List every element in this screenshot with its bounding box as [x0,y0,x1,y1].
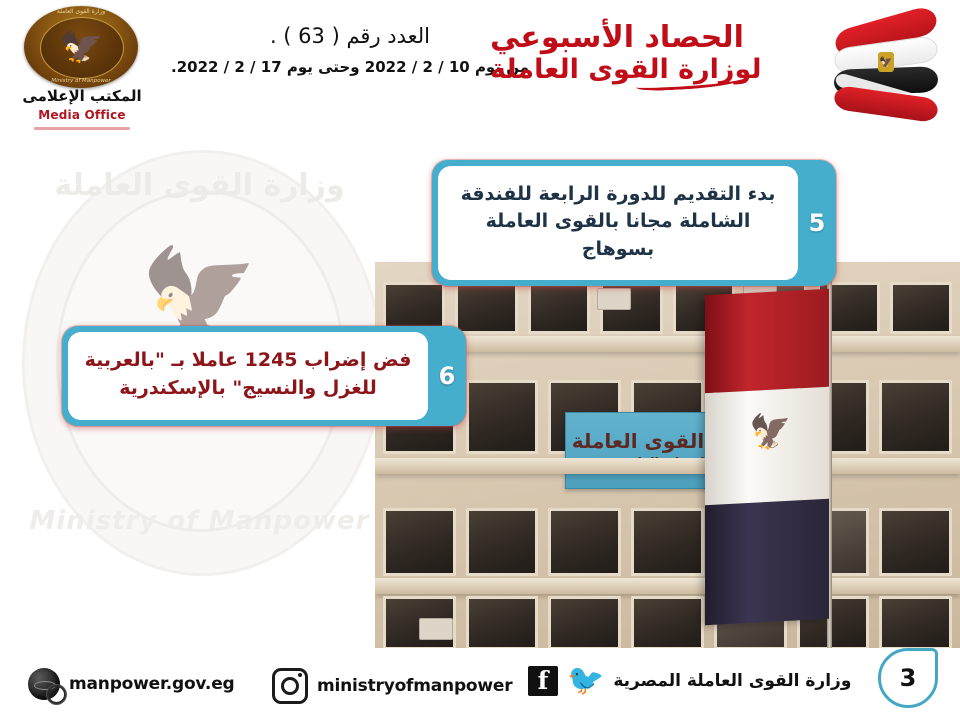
page-title-line1: الحصاد الأسبوعي [490,22,820,54]
seal-inner-disc: 🦅 [40,17,124,79]
slide-header: وزارة القوى العاملة 🦅 Ministry of Manpow… [0,0,960,140]
eagle-emblem-icon: 🦅 [60,33,105,63]
seal-arc-top-text: وزارة القوى العاملة [24,8,138,15]
watermark-bottom-text: Ministry of Manpower [22,506,377,536]
page-title: الحصاد الأسبوعي لوزارة القوى العاملة [490,22,820,84]
ministry-building-photo: وزارة القوى العاملة الديوان العام [375,262,960,650]
slide-page: وزارة القوى العاملة 🦅 Ministry of Manpow… [0,0,960,720]
media-office-label-ar: المكتب الإعلامى [6,88,158,105]
window-row-middle [375,508,960,576]
news-card-5[interactable]: 5 بدء التقديم للدورة الرابعة للفندقة الش… [432,160,836,286]
building-window [548,596,621,650]
building-window [466,596,539,650]
building-window [548,508,621,576]
building-window [466,380,539,454]
news-card-5-number: 5 [800,160,834,286]
building-ledge [375,458,960,474]
news-card-5-text: بدء التقديم للدورة الرابعة للفندقة الشام… [452,181,784,264]
globe-icon [28,668,60,700]
window-row-lower [375,596,960,650]
slide-footer: manpower.gov.eg ministryofmanpower f 🐦 و… [0,648,960,720]
instagram-icon [272,668,308,704]
flag-stripe-black [705,499,829,625]
building-window [631,596,704,650]
building-window [631,508,704,576]
egypt-flag: 🦅 [705,289,829,625]
building-window [466,508,539,576]
media-office-block: المكتب الإعلامى Media Office [6,88,158,130]
building-window [383,508,456,576]
facebook-icon: f [528,666,558,696]
building-window [879,508,952,576]
twitter-icon: 🐦 [567,666,604,696]
page-number-badge: 3 [878,648,938,708]
news-card-5-body: بدء التقديم للدورة الرابعة للفندقة الشام… [438,166,798,280]
ministry-seal-logo: وزارة القوى العاملة 🦅 Ministry of Manpow… [24,6,138,88]
air-conditioner-unit [419,618,453,640]
flag-eagle-icon: 🦅 [749,411,791,453]
building-window [879,596,952,650]
website-label: manpower.gov.eg [69,674,235,694]
flag-stripe-red [705,289,829,393]
news-card-6[interactable]: 6 فض إضراب 1245 عاملا بـ "بالعربية للغزل… [62,326,466,426]
instagram-label: ministryofmanpower [317,676,512,696]
news-card-6-text: فض إضراب 1245 عاملا بـ "بالعربية للغزل و… [82,347,414,402]
building-window [890,282,952,334]
watermark-top-text: وزارة القوى العاملة [22,168,377,203]
news-card-6-frame: 6 فض إضراب 1245 عاملا بـ "بالعربية للغزل… [62,326,466,426]
media-office-label-en: Media Office [6,108,158,122]
news-card-5-frame: 5 بدء التقديم للدورة الرابعة للفندقة الش… [432,160,836,286]
instagram-link[interactable]: ministryofmanpower [272,668,512,704]
flag-eagle-crest-icon: 🦅 [878,52,894,72]
egypt-flag-globe-icon: 🦅 [826,8,946,128]
building-window [528,282,590,334]
building-window [879,380,952,454]
seal-arc-bottom-text: Ministry of Manpower [24,78,138,84]
news-card-6-body: فض إضراب 1245 عاملا بـ "بالعربية للغزل و… [68,332,428,420]
social-pages-link[interactable]: f 🐦 وزارة القوى العاملة المصرية [528,666,851,696]
air-conditioner-unit [597,288,631,310]
social-pages-label: وزارة القوى العاملة المصرية [613,671,851,691]
media-office-divider [34,127,130,130]
website-link[interactable]: manpower.gov.eg [28,668,235,700]
building-ledge [375,578,960,594]
news-card-6-number: 6 [430,326,464,426]
